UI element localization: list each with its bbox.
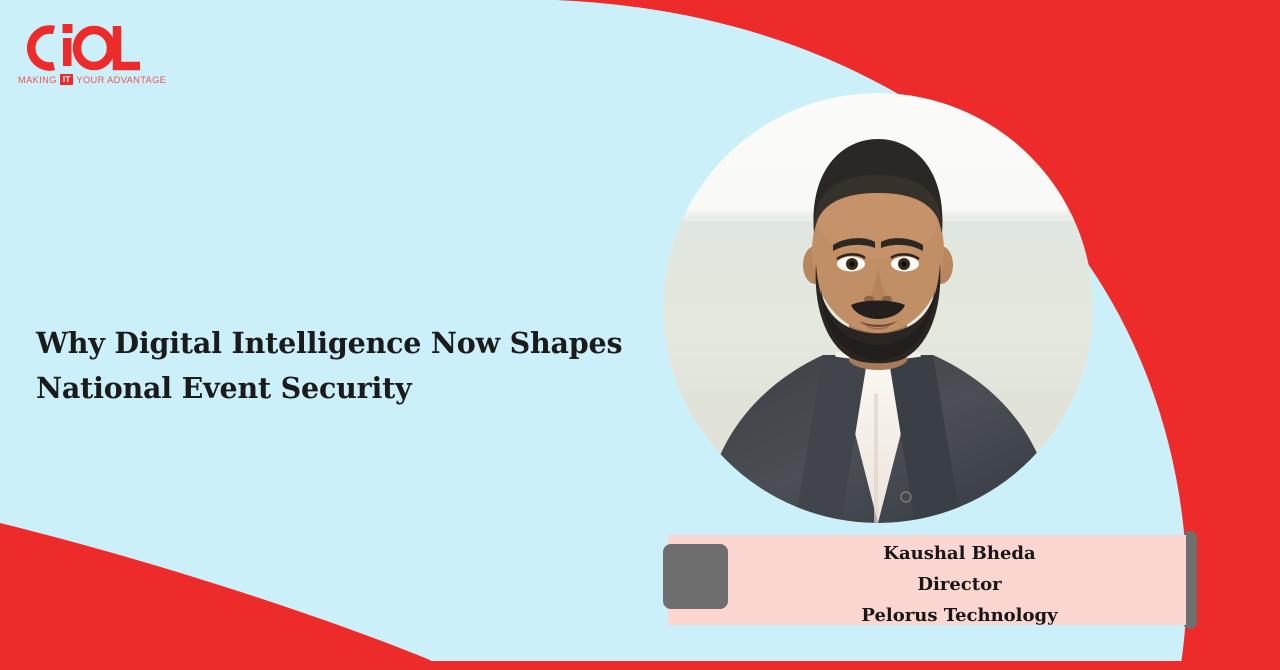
name-card-accent-square — [663, 544, 728, 609]
speaker-name: Kaushal Bheda — [883, 539, 1035, 568]
headline-title: Why Digital Intelligence Now Shapes Nati… — [36, 321, 636, 411]
ciol-logo[interactable]: MAKING IT YOUR ADVANTAGE — [16, 18, 166, 96]
logo-tagline-before: MAKING — [18, 75, 57, 85]
logo-tagline-after: YOUR ADVANTAGE — [76, 75, 166, 85]
speaker-portrait-photo — [663, 93, 1093, 523]
red-bottom-band — [0, 661, 1280, 670]
speaker-name-card: Kaushal Bheda Director Pelorus Technolog… — [663, 531, 1197, 629]
name-card-text-block: Kaushal Bheda Director Pelorus Technolog… — [733, 539, 1186, 629]
portrait-illustration — [663, 93, 1093, 523]
name-card-panel: Kaushal Bheda Director Pelorus Technolog… — [668, 535, 1186, 625]
logo-tagline: MAKING IT YOUR ADVANTAGE — [18, 74, 166, 85]
article-promo-banner: MAKING IT YOUR ADVANTAGE Why Digital Int… — [0, 0, 1280, 670]
speaker-designation: Director — [917, 570, 1001, 599]
logo-tagline-it-badge: IT — [60, 74, 74, 85]
ciol-wordmark-icon — [16, 18, 148, 74]
speaker-company: Pelorus Technology — [861, 601, 1057, 630]
